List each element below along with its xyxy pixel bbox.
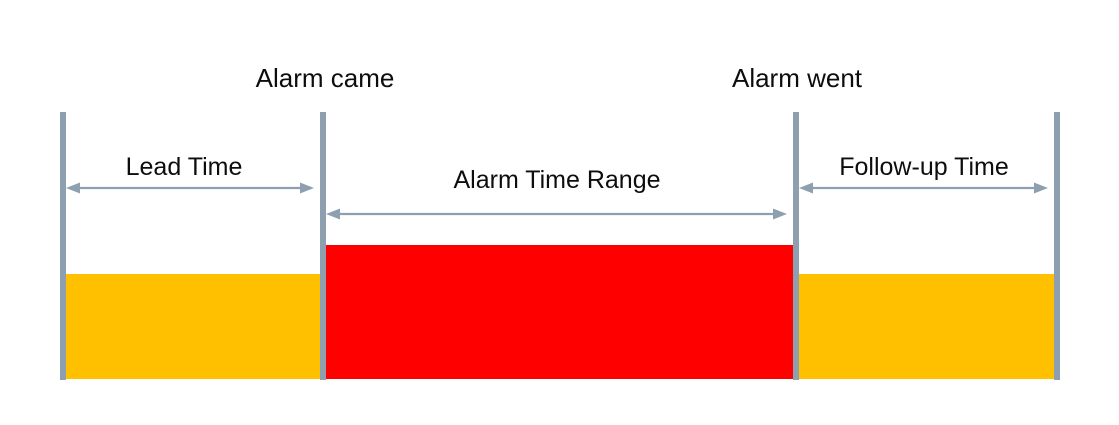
alarm-time-range-arrow xyxy=(326,209,787,220)
marker-label-alarm-went: Alarm went xyxy=(732,65,862,91)
segment-label-lead-time: Lead Time xyxy=(126,155,243,180)
segment-label-follow-up-time: Follow-up Time xyxy=(839,155,1009,180)
measure-arrows-layer xyxy=(0,0,1119,425)
alarm-timeline-diagram: Alarm came Alarm went Lead Time Alarm Ti… xyxy=(0,0,1119,425)
marker-label-alarm-came: Alarm came xyxy=(256,65,395,91)
lead-time-arrow xyxy=(66,183,314,194)
segment-label-alarm-time-range: Alarm Time Range xyxy=(453,168,660,193)
follow-up-time-arrow xyxy=(799,183,1048,194)
